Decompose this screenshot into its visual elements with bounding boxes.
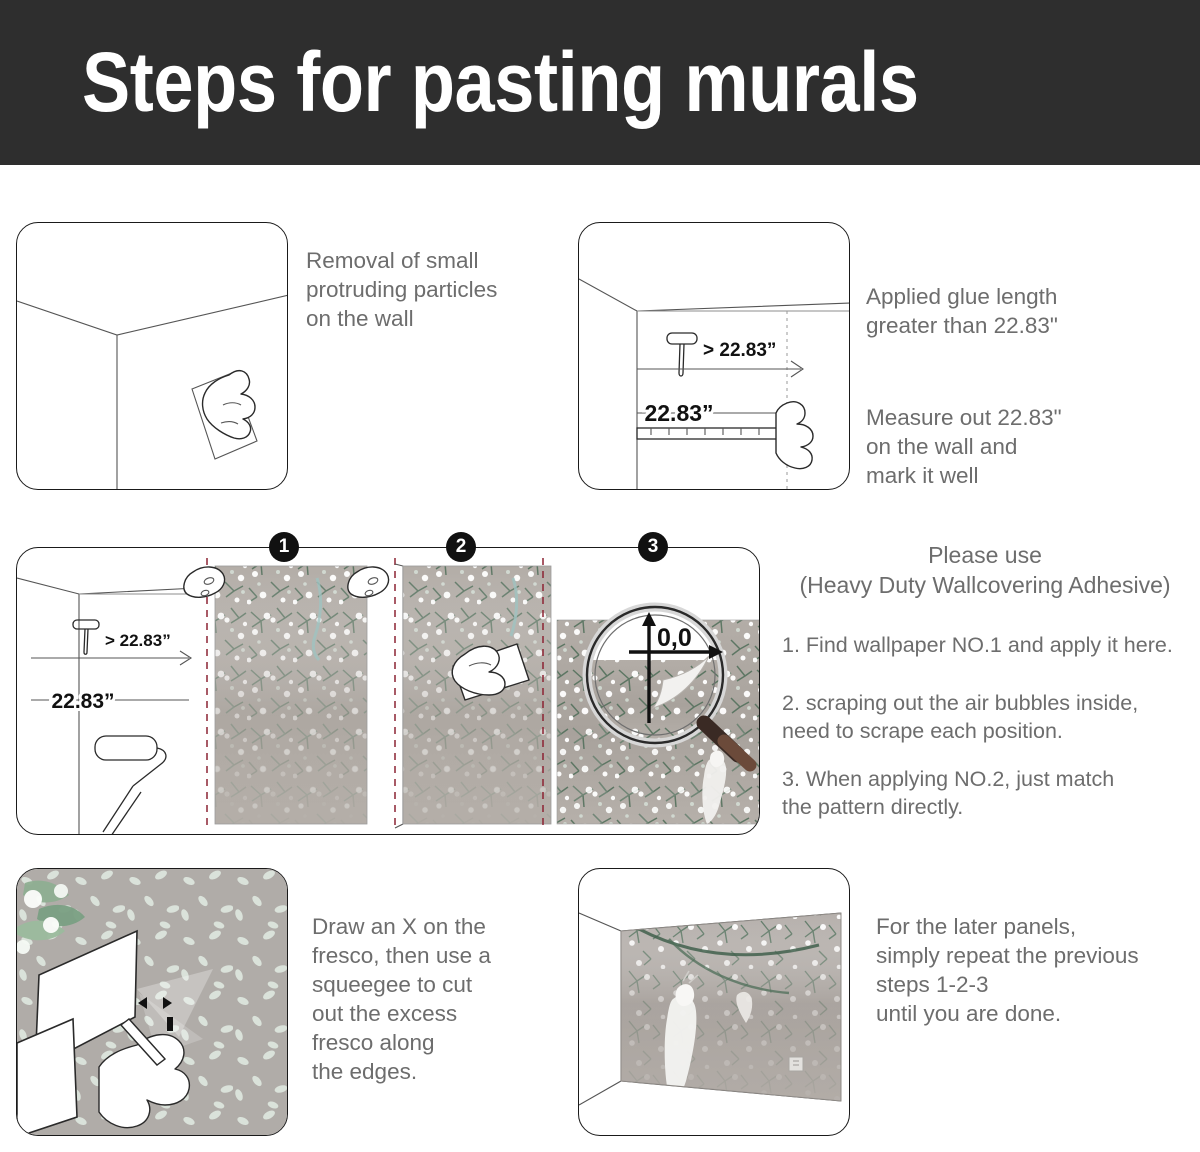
- caption-step-1: Removal of small protruding particles on…: [306, 246, 566, 333]
- instruction-2: 2. scraping out the air bubbles inside, …: [782, 690, 1194, 745]
- instruction-1: 1. Find wallpaper NO.1 and apply it here…: [782, 632, 1194, 660]
- panel-middle-steps: > 22.83” 22.83”: [16, 547, 760, 835]
- measure-label: 22.83”: [644, 400, 713, 426]
- svg-text:> 22.83”: > 22.83”: [105, 631, 171, 650]
- caption-step-4: Draw an X on the fresco, then use a sque…: [312, 912, 582, 1086]
- panel-step-4: [16, 868, 288, 1136]
- magnifier-origin-label: 0,0: [657, 624, 692, 652]
- middle-steps-illustration: > 22.83” 22.83”: [17, 548, 760, 835]
- squeegee-cut-illustration: [17, 869, 288, 1136]
- glue-and-measure-illustration: > 22.83” 22.83”: [579, 223, 850, 490]
- panel-step-5: [578, 868, 850, 1136]
- glue-length-label: > 22.83”: [703, 340, 776, 361]
- step-badge-3: 3: [638, 532, 668, 562]
- caption-step-2-bottom: Measure out 22.83" on the wall and mark …: [866, 403, 1166, 490]
- adhesive-heading: Please use (Heavy Duty Wallcovering Adhe…: [780, 540, 1190, 600]
- finished-mural-illustration: [579, 869, 850, 1136]
- step-badge-1: 1: [269, 532, 299, 562]
- corner-wall-scraper-illustration: [17, 223, 288, 490]
- instruction-3: 3. When applying NO.2, just match the pa…: [782, 766, 1194, 821]
- panel-step-2: > 22.83” 22.83”: [578, 222, 850, 490]
- caption-step-2-top: Applied glue length greater than 22.83": [866, 282, 1166, 340]
- header-banner: Steps for pasting murals: [0, 0, 1200, 165]
- step-badge-2: 2: [446, 532, 476, 562]
- page-title: Steps for pasting murals: [82, 34, 919, 130]
- caption-step-5: For the later panels, simply repeat the …: [876, 912, 1196, 1028]
- panel-step-1: [16, 222, 288, 490]
- svg-text:22.83”: 22.83”: [51, 690, 114, 713]
